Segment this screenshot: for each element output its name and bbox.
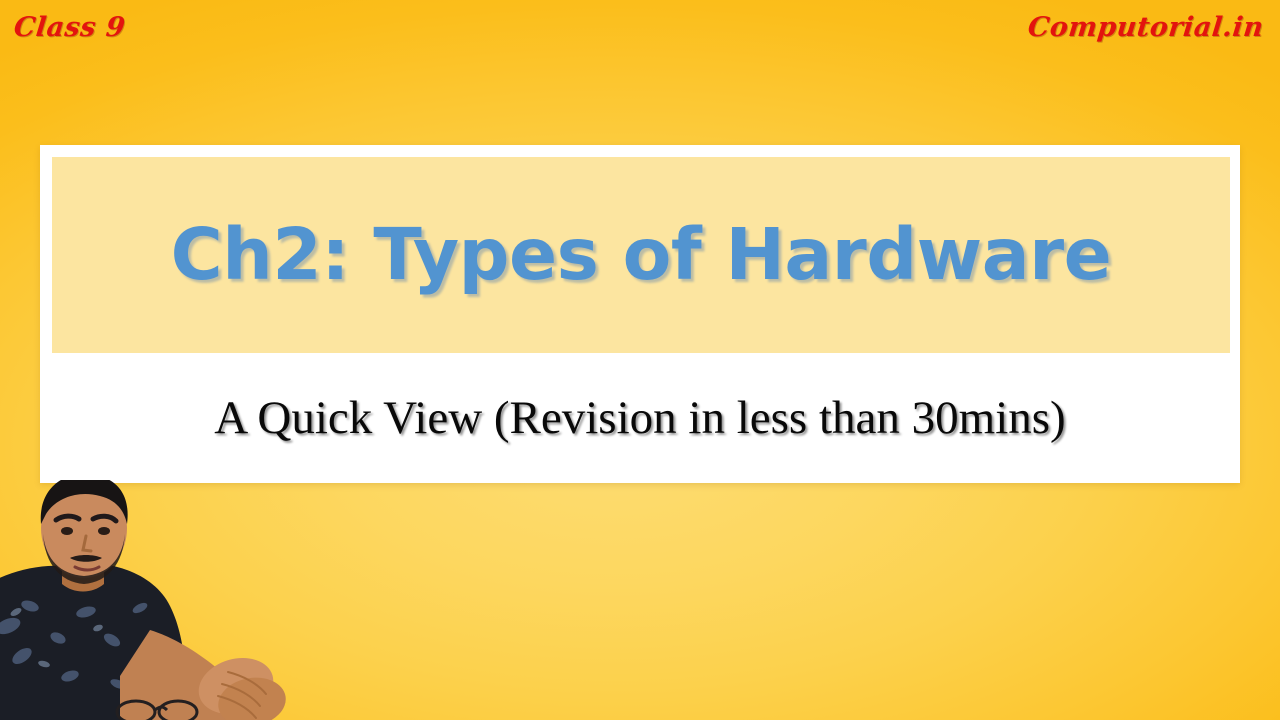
subtitle-area: A Quick View (Revision in less than 30mi… [40,353,1240,483]
presenter-overlay [0,480,300,720]
class-watermark: Class 9 [12,12,127,43]
slide-canvas: Class 9 Computorial.in Ch2: Types of Har… [0,0,1280,720]
title-card: Ch2: Types of Hardware A Quick View (Rev… [40,145,1240,483]
presenter-figure [0,480,300,720]
site-watermark: Computorial.in [1027,12,1266,43]
page-title: Ch2: Types of Hardware [171,218,1112,293]
page-subtitle: A Quick View (Revision in less than 30mi… [214,391,1065,445]
title-panel: Ch2: Types of Hardware [52,157,1230,353]
